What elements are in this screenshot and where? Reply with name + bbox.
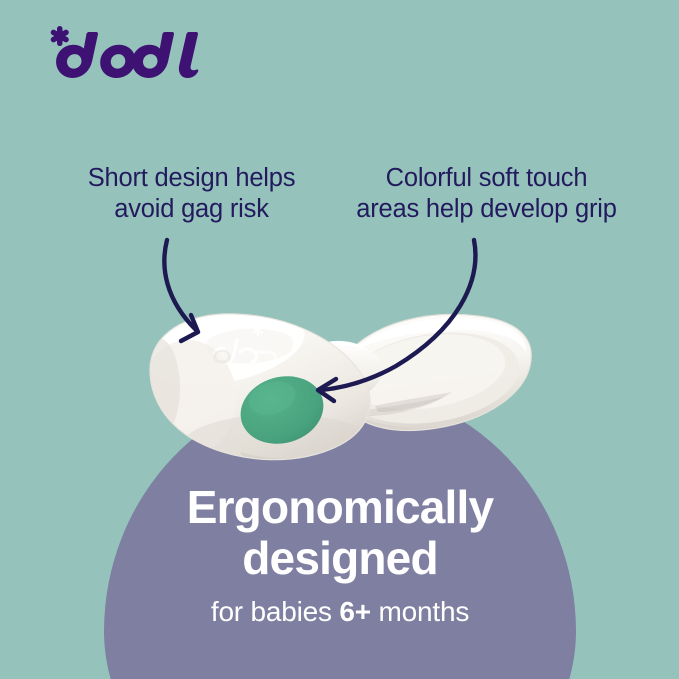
product-feature-graphic: Short design helps avoid gag risk Colorf… [0,0,679,679]
arrow-right-stem [322,240,475,390]
headline-line-2: designed [104,533,576,584]
subline-suffix: months [371,596,469,627]
headline-line-1: Ergonomically [104,482,576,533]
subline-prefix: for babies [211,596,340,627]
subline-emphasis: 6+ [339,596,371,627]
headline-subline: for babies 6+ months [104,596,576,628]
headline-block: Ergonomically designed for babies 6+ mon… [104,482,576,628]
